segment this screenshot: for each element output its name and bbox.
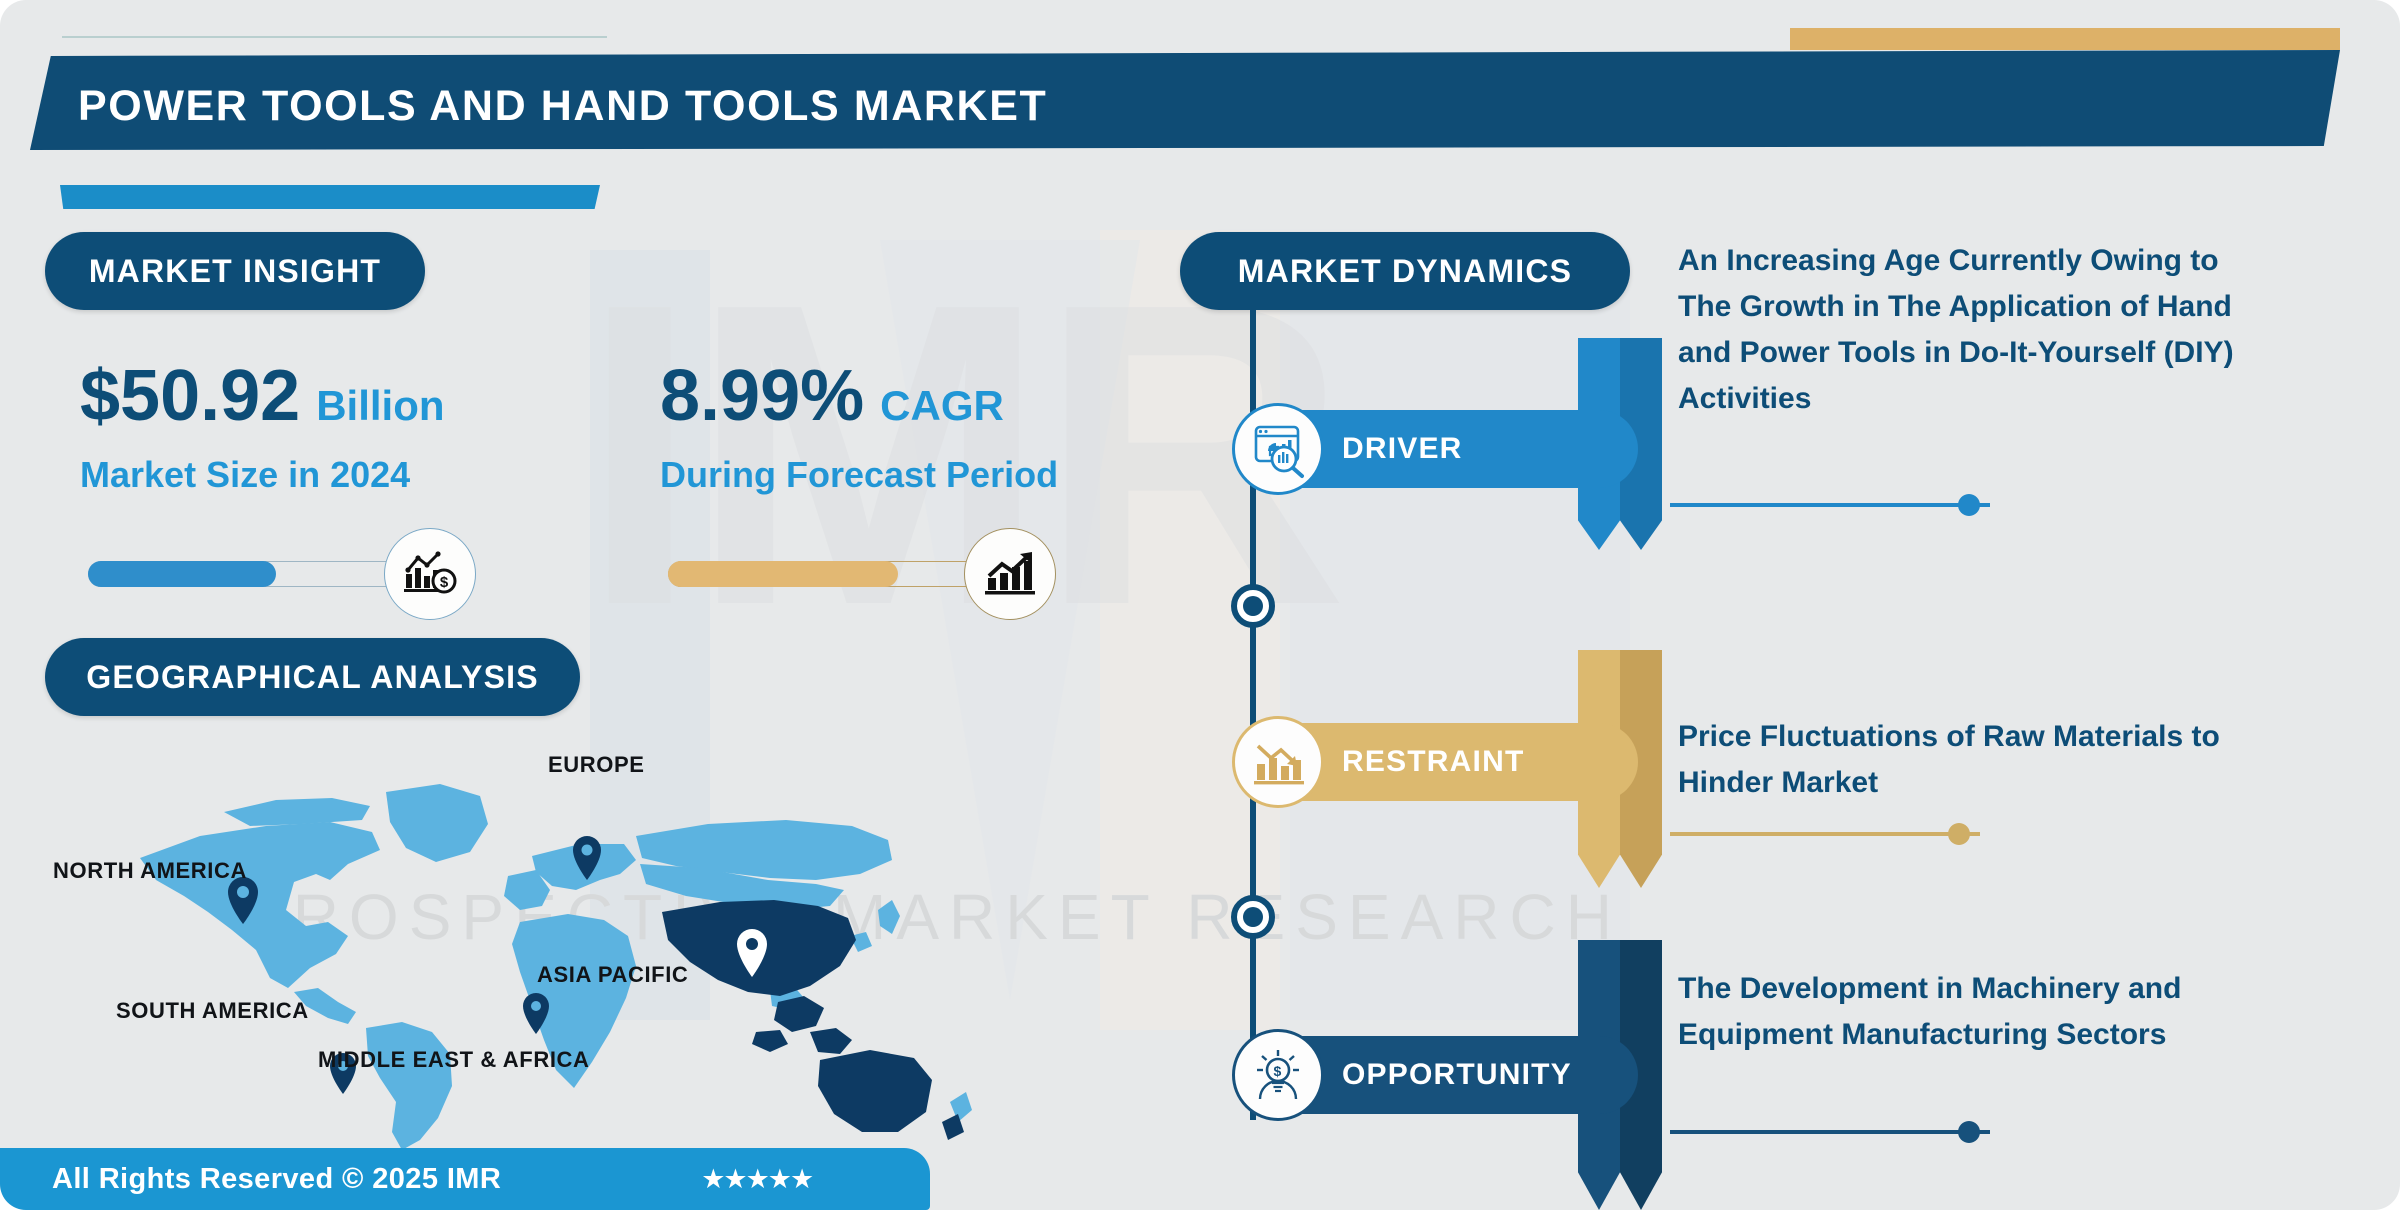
- kpi-market-size-value: $50.92: [80, 360, 300, 432]
- footer-bar: All Rights Reserved © 2025 IMR ★★★★★: [0, 1148, 930, 1210]
- map-label-europe: EUROPE: [548, 752, 645, 778]
- declining-bar-chart-icon: [1232, 716, 1324, 808]
- footer-rating-stars: ★★★★★: [701, 1164, 812, 1195]
- market-dynamics-heading: MARKET DYNAMICS: [1180, 232, 1630, 310]
- kpi-cagr-unit: CAGR: [880, 385, 1004, 427]
- restraint-badge[interactable]: RESTRAINT: [1238, 723, 1638, 801]
- header-gold-strip: [1790, 28, 2340, 50]
- bar-chart-dollar-icon: $: [384, 528, 476, 620]
- market-size-progress: $: [88, 528, 476, 620]
- page-title: POWER TOOLS AND HAND TOOLS MARKET: [78, 82, 1047, 131]
- restraint-leader-dot: [1948, 823, 1970, 845]
- header-accent-strip: [60, 185, 600, 209]
- kpi-cagr-value: 8.99%: [660, 360, 864, 432]
- svg-text:$: $: [1274, 1063, 1283, 1079]
- opportunity-badge[interactable]: $ OPPORTUNITY: [1238, 1036, 1638, 1114]
- driver-description: An Increasing Age Currently Owing to The…: [1678, 238, 2238, 422]
- map-label-middle-east-africa: MIDDLE EAST & AFRICA: [318, 1047, 590, 1073]
- market-size-progress-fill: [88, 561, 276, 587]
- kpi-cagr: 8.99% CAGR During Forecast Period: [660, 360, 1058, 496]
- restraint-label: RESTRAINT: [1342, 745, 1524, 779]
- opportunity-description: The Development in Machinery and Equipme…: [1678, 966, 2238, 1058]
- market-size-progress-track: [88, 561, 418, 587]
- footer-copyright: All Rights Reserved © 2025 IMR: [52, 1163, 501, 1196]
- kpi-cagr-subtitle: During Forecast Period: [660, 454, 1058, 496]
- timeline-node-2: [1231, 895, 1275, 939]
- restraint-leader-line: [1670, 832, 1980, 836]
- svg-text:$: $: [440, 574, 449, 591]
- world-map: NORTH AMERICA SOUTH AMERICA EUROPE MIDDL…: [80, 740, 1060, 1160]
- map-label-north-america: NORTH AMERICA: [53, 858, 247, 884]
- map-label-south-america: SOUTH AMERICA: [116, 998, 309, 1024]
- cagr-progress: [668, 528, 1056, 620]
- cagr-progress-track: [668, 561, 998, 587]
- opportunity-leader-dot: [1958, 1121, 1980, 1143]
- geographical-analysis-heading: GEOGRAPHICAL ANALYSIS: [45, 638, 580, 716]
- driver-badge[interactable]: DRIVER: [1238, 410, 1638, 488]
- kpi-market-size-unit: Billion: [316, 385, 444, 427]
- map-label-asia-pacific: ASIA PACIFIC: [537, 962, 688, 988]
- market-insight-heading: MARKET INSIGHT: [45, 232, 425, 310]
- header-thin-rule: [62, 36, 607, 38]
- driver-leader-dot: [1958, 494, 1980, 516]
- kpi-market-size-subtitle: Market Size in 2024: [80, 454, 445, 496]
- opportunity-label: OPPORTUNITY: [1342, 1058, 1572, 1092]
- restraint-description: Price Fluctuations of Raw Materials to H…: [1678, 714, 2238, 806]
- kpi-market-size: $50.92 Billion Market Size in 2024: [80, 360, 445, 496]
- lightbulb-dollar-icon: $: [1232, 1029, 1324, 1121]
- timeline-node-1: [1231, 584, 1275, 628]
- opportunity-leader-line: [1670, 1130, 1990, 1134]
- dashboard-analytics-search-icon: [1232, 403, 1324, 495]
- cagr-progress-fill: [668, 561, 898, 587]
- driver-leader-line: [1670, 503, 1990, 507]
- growth-arrow-chart-icon: [964, 528, 1056, 620]
- driver-label: DRIVER: [1342, 432, 1463, 466]
- infographic-canvas: IMR PROSPECTIVE MARKET RESEARCH POWER TO…: [0, 0, 2400, 1210]
